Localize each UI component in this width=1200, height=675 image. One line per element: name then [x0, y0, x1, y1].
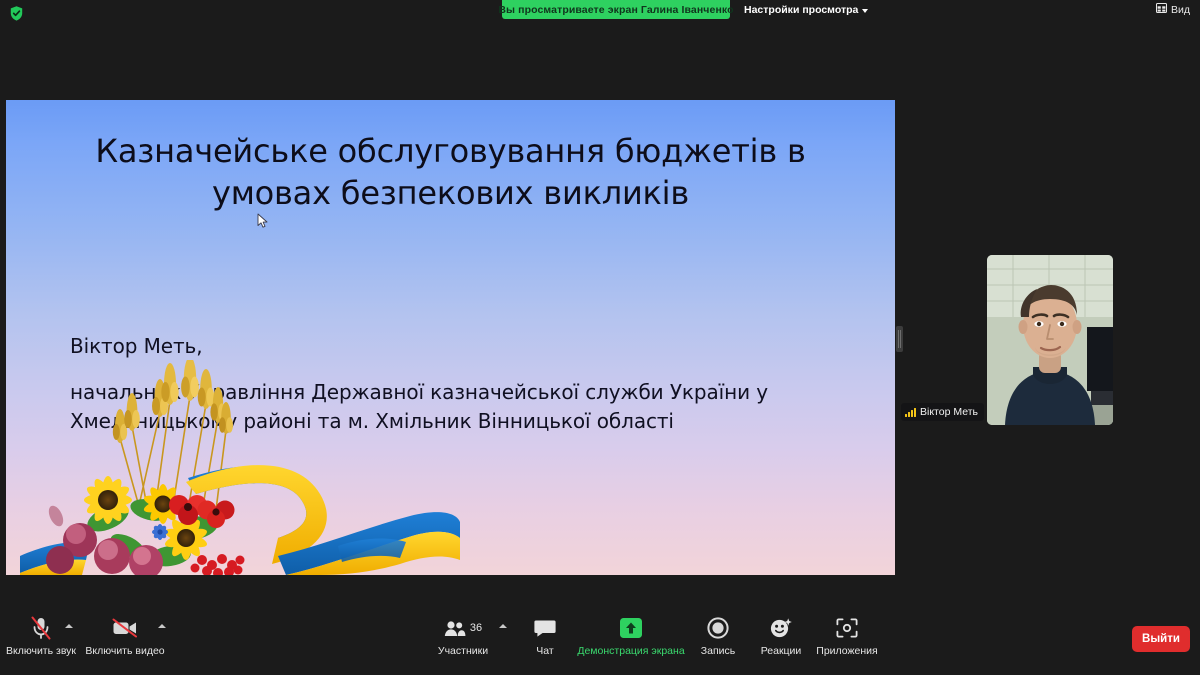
- chevron-down-icon: [862, 9, 868, 13]
- participant-name-badge: Віктор Меть: [901, 403, 984, 421]
- view-settings-label: Настройки просмотра: [744, 4, 858, 16]
- reactions-label: Реакции: [761, 646, 802, 658]
- mouse-cursor: [257, 213, 269, 229]
- participant-name-label: Віктор Меть: [920, 406, 978, 418]
- share-screen-button[interactable]: Демонстрация экрана: [588, 615, 674, 658]
- apps-grid-icon: [836, 615, 858, 641]
- share-screen-label: Демонстрация экрана: [577, 646, 684, 658]
- presenter-name: Віктор Меть,: [70, 332, 860, 360]
- grid-view-icon: [1156, 3, 1167, 16]
- chat-label: Чат: [536, 646, 553, 658]
- audio-level-bars-icon: [905, 408, 916, 417]
- participant-webcam-image: [987, 255, 1113, 425]
- chat-bubble-icon: [534, 615, 556, 641]
- apps-label: Приложения: [816, 646, 877, 658]
- top-bar: Вы просматриваете экран Галина Іванченко…: [0, 0, 1200, 22]
- unmute-label: Включить звук: [6, 646, 76, 658]
- slide-title: Казначейське обслуговування бюджетів в у…: [6, 130, 895, 214]
- shared-screen-slide[interactable]: Казначейське обслуговування бюджетів в у…: [6, 100, 895, 575]
- record-circle-icon: [707, 615, 729, 641]
- screen-sharing-banner: Вы просматриваете экран Галина Іванченко: [502, 0, 730, 19]
- view-button-label: Вид: [1171, 4, 1190, 16]
- start-video-button[interactable]: Включить видео: [82, 615, 168, 658]
- camera-muted-icon: [112, 615, 138, 641]
- view-settings-dropdown[interactable]: Настройки просмотра: [744, 1, 868, 19]
- video-options-chevron-icon[interactable]: [158, 624, 166, 628]
- participants-count: 36: [470, 622, 482, 634]
- participants-button[interactable]: 36 Участники: [420, 615, 506, 658]
- meeting-controls-toolbar: Включить звук Включить видео: [0, 607, 1200, 675]
- share-view-splitter-handle[interactable]: [896, 326, 903, 352]
- people-icon: 36: [444, 615, 482, 641]
- smiley-reaction-icon: [769, 615, 793, 641]
- zoom-meeting-window: Вы просматриваете экран Галина Іванченко…: [0, 0, 1200, 675]
- participant-video-tile[interactable]: [987, 255, 1113, 425]
- apps-button[interactable]: Приложения: [804, 615, 890, 658]
- share-screen-arrow-up-icon: [619, 615, 643, 641]
- record-label: Запись: [701, 646, 735, 658]
- view-layout-button[interactable]: Вид: [1156, 3, 1190, 16]
- audio-options-chevron-icon[interactable]: [65, 624, 73, 628]
- start-video-label: Включить видео: [85, 646, 164, 658]
- microphone-muted-icon: [30, 615, 52, 641]
- ukrainian-bouquet-graphic: [20, 360, 460, 575]
- chat-button[interactable]: Чат: [502, 615, 588, 658]
- shield-check-icon[interactable]: [8, 5, 25, 22]
- participants-label: Участники: [438, 646, 488, 658]
- leave-meeting-button[interactable]: Выйти: [1132, 626, 1190, 652]
- unmute-button[interactable]: Включить звук: [0, 615, 84, 658]
